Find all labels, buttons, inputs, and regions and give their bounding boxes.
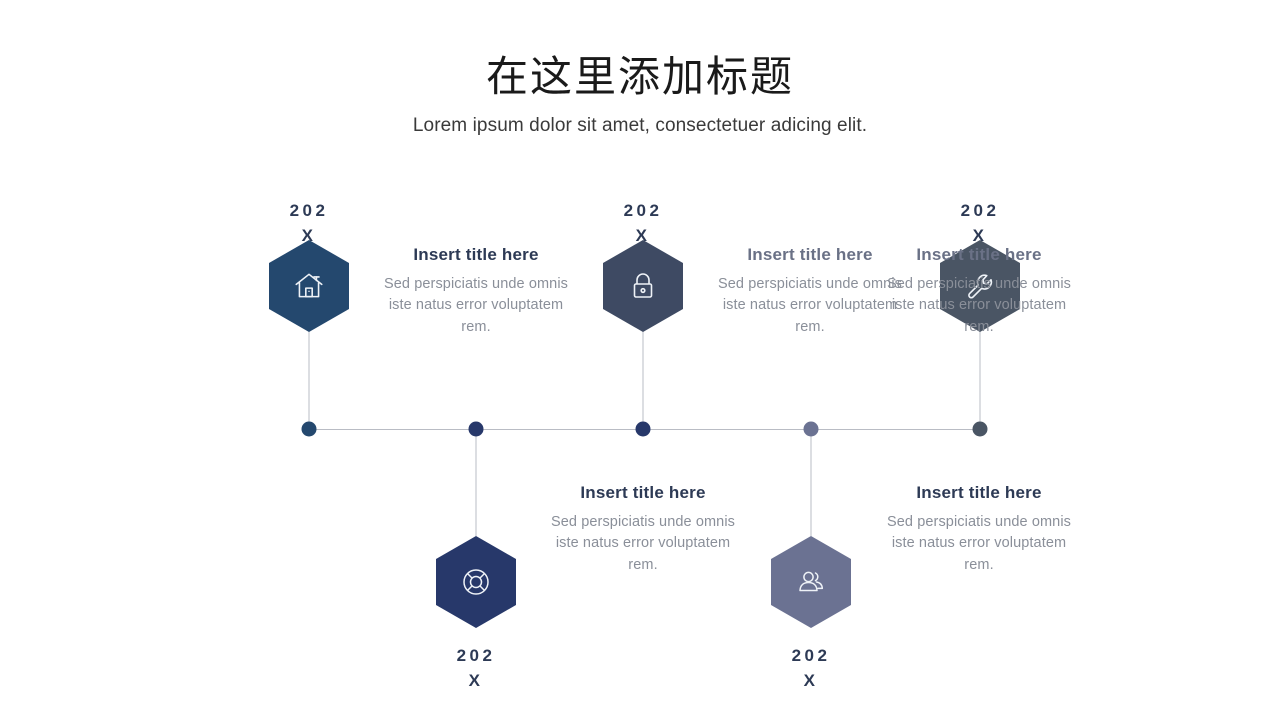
page-title: 在这里添加标题 [0, 52, 1280, 105]
year-value-1: 202 [290, 201, 329, 220]
timeline-hexagon-3[interactable] [603, 240, 683, 332]
timeline-body-4: Sed perspiciatis unde omnis iste natus e… [884, 512, 1074, 576]
timeline-text-2: Insert title here Sed perspiciatis unde … [548, 483, 738, 576]
timeline-title-2: Insert title here [548, 483, 738, 503]
timeline-title-4: Insert title here [884, 483, 1074, 503]
timeline-body-5: Sed perspiciatis unde omnis iste natus e… [884, 274, 1074, 338]
connector-line-2 [476, 429, 477, 536]
lock-icon [628, 270, 658, 302]
timeline-hexagon-2[interactable] [436, 536, 516, 628]
year-value-2: 202 [457, 646, 496, 665]
timeline-text-5: Insert title here Sed perspiciatis unde … [884, 245, 1074, 338]
home-icon [292, 269, 326, 303]
timeline-year-2: 202 X [436, 644, 516, 693]
lifebuoy-icon [460, 566, 492, 598]
year-value-4: 202 [792, 646, 831, 665]
timeline-body-2: Sed perspiciatis unde omnis iste natus e… [548, 512, 738, 576]
timeline-title-5: Insert title here [884, 245, 1074, 265]
year-value-3: 202 [624, 201, 663, 220]
timeline-text-4: Insert title here Sed perspiciatis unde … [884, 483, 1074, 576]
connector-line-1 [309, 325, 310, 429]
timeline-text-1: Insert title here Sed perspiciatis unde … [381, 245, 571, 338]
year-suffix-4: X [804, 671, 819, 690]
year-suffix-2: X [469, 671, 484, 690]
page-subtitle: Lorem ipsum dolor sit amet, consectetuer… [0, 115, 1280, 137]
timeline-hexagon-4[interactable] [771, 536, 851, 628]
timeline-dot-1[interactable] [302, 422, 317, 437]
connector-line-4 [811, 429, 812, 536]
people-icon [795, 567, 827, 597]
timeline-body-3: Sed perspiciatis unde omnis iste natus e… [715, 274, 905, 338]
timeline-body-1: Sed perspiciatis unde omnis iste natus e… [381, 274, 571, 338]
timeline-dot-5[interactable] [973, 422, 988, 437]
timeline-title-1: Insert title here [381, 245, 571, 265]
timeline-hexagon-1[interactable] [269, 240, 349, 332]
slide-canvas: 在这里添加标题 Lorem ipsum dolor sit amet, cons… [0, 0, 1280, 720]
year-value-5: 202 [961, 201, 1000, 220]
connector-line-5 [980, 325, 981, 429]
timeline-dot-3[interactable] [636, 422, 651, 437]
connector-line-3 [643, 325, 644, 429]
timeline-dot-2[interactable] [469, 422, 484, 437]
timeline-title-3: Insert title here [715, 245, 905, 265]
timeline-year-4: 202 X [771, 644, 851, 693]
timeline-text-3: Insert title here Sed perspiciatis unde … [715, 245, 905, 338]
timeline-dot-4[interactable] [804, 422, 819, 437]
slide-header: 在这里添加标题 Lorem ipsum dolor sit amet, cons… [0, 52, 1280, 137]
